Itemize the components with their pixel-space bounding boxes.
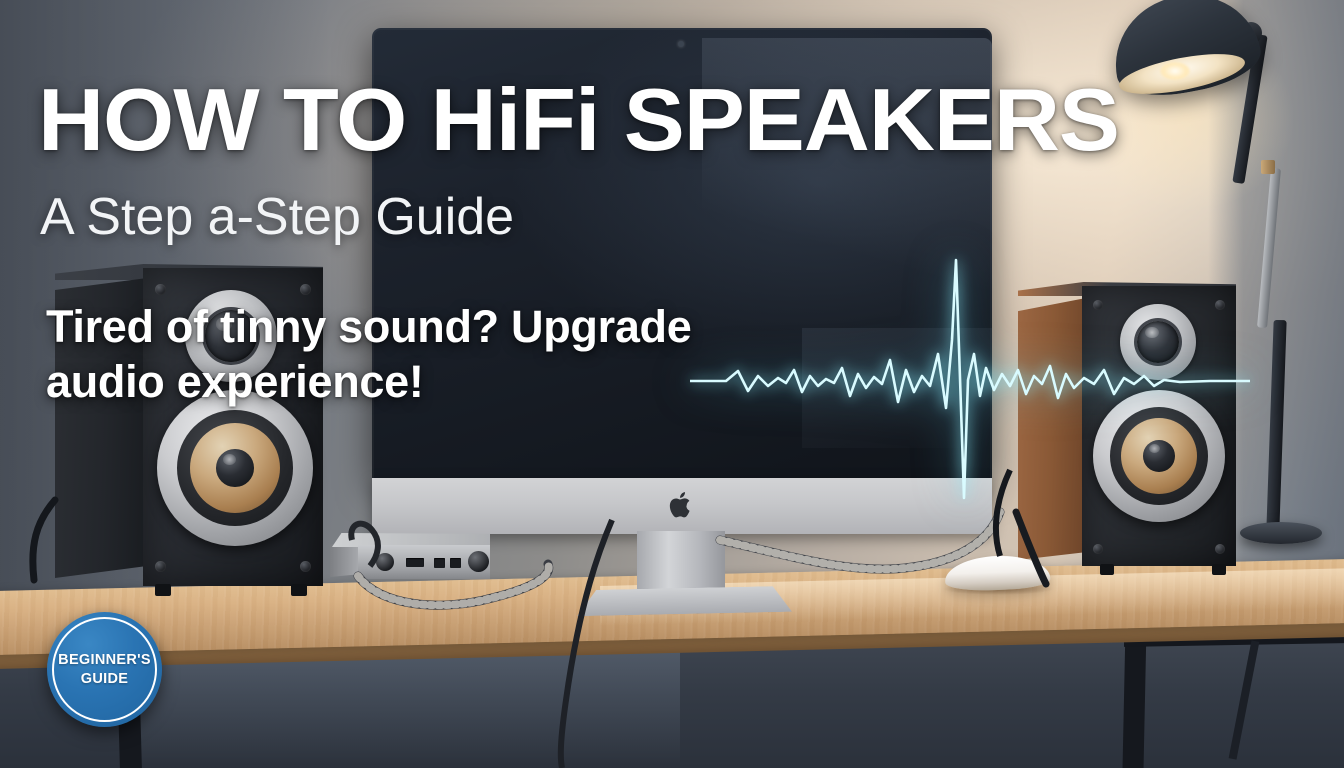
amp-front-panel [358,545,490,579]
speaker-left-woofer [157,390,313,546]
speaker-foot [155,584,171,596]
beginners-guide-badge[interactable]: BEGINNER'S GUIDE [47,612,162,727]
badge-label-line-2: GUIDE [58,670,151,688]
amp-usb-port-icon [406,558,424,567]
speaker-screw [155,561,166,572]
promo-copy: Tired of tinny sound? Upgrade audio expe… [46,300,836,410]
lamp-base [1240,522,1322,544]
desk-leg-right [1123,628,1147,768]
badge-label-line-1: BEGINNER'S [58,651,151,669]
speaker-foot [1100,564,1114,575]
speaker-screw [155,284,166,295]
amp-port-icon [434,558,445,568]
page-subtitle: A Step a-Step Guide [40,190,514,245]
badge-label: BEGINNER'S GUIDE [58,651,151,687]
promo-copy-line-2: audio experience! [46,355,836,410]
floor-sheen [120,648,680,768]
speaker-foot [1212,564,1226,575]
banner-canvas: HOW TO HiFi SPEAKERS A Step a-Step Guide… [0,0,1344,768]
speaker-screw [300,284,311,295]
monitor-stand-neck [637,531,725,593]
speaker-screw [1215,544,1225,554]
lamp-collar [1261,160,1275,174]
speaker-screw [300,561,311,572]
desktop-amplifier [330,533,490,581]
amp-port-icon [450,558,461,568]
speaker-screw [1093,544,1103,554]
monitor-stand-foot [577,586,792,617]
woofer-dust-cap [216,449,253,486]
amp-jack-icon [376,553,394,571]
speaker-foot [291,584,307,596]
amp-output-jack-icon [468,551,489,572]
webcam-icon [678,41,684,47]
page-title: HOW TO HiFi SPEAKERS [38,78,1317,162]
promo-copy-line-1: Tired of tinny sound? Upgrade [46,300,836,355]
